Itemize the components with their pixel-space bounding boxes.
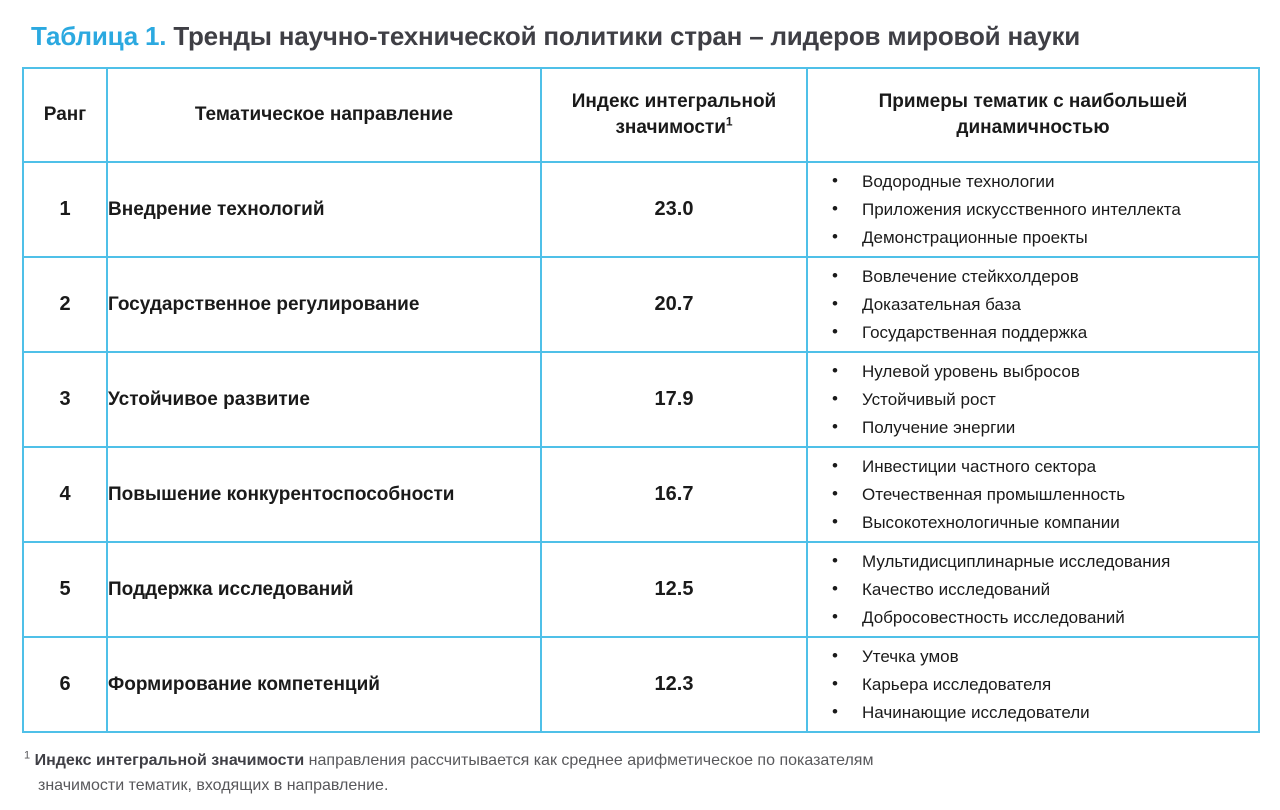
list-item: Добросовестность исследований — [808, 604, 1258, 632]
examples-list: Нулевой уровень выбросов Устойчивый рост… — [808, 358, 1258, 442]
list-item: Нулевой уровень выбросов — [808, 358, 1258, 386]
column-header-index-line1: Индекс интегральной — [572, 91, 777, 112]
cell-index: 20.7 — [541, 257, 807, 352]
cell-theme: Внедрение технологий — [107, 162, 541, 257]
cell-rank: 6 — [23, 637, 107, 732]
column-header-rank: Ранг — [23, 68, 107, 162]
cell-rank: 4 — [23, 447, 107, 542]
list-item: Демонстрационные проекты — [808, 224, 1258, 252]
table-row: 3 Устойчивое развитие 17.9 Нулевой урове… — [23, 352, 1259, 447]
column-header-theme: Тематическое направление — [107, 68, 541, 162]
cell-examples: Водородные технологии Приложения искусст… — [807, 162, 1259, 257]
list-item: Утечка умов — [808, 643, 1258, 671]
footnote-ref: 1 — [726, 115, 733, 129]
examples-list: Водородные технологии Приложения искусст… — [808, 168, 1258, 252]
footnote-marker: 1 — [24, 750, 30, 762]
column-header-examples: Примеры тематик с наибольшей динамичност… — [807, 68, 1259, 162]
cell-theme: Устойчивое развитие — [107, 352, 541, 447]
cell-examples: Мультидисциплинарные исследования Качест… — [807, 542, 1259, 637]
list-item: Высокотехнологичные компании — [808, 509, 1258, 537]
table-row: 6 Формирование компетенций 12.3 Утечка у… — [23, 637, 1259, 732]
table-header-row: Ранг Тематическое направление Индекс инт… — [23, 68, 1259, 162]
list-item: Карьера исследователя — [808, 671, 1258, 699]
cell-theme: Государственное регулирование — [107, 257, 541, 352]
cell-theme: Повышение конкурентоспособности — [107, 447, 541, 542]
cell-index: 23.0 — [541, 162, 807, 257]
cell-examples: Вовлечение стейкхолдеров Доказательная б… — [807, 257, 1259, 352]
list-item: Мультидисциплинарные исследования — [808, 548, 1258, 576]
list-item: Доказательная база — [808, 291, 1258, 319]
list-item: Инвестиции частного сектора — [808, 453, 1258, 481]
list-item: Водородные технологии — [808, 168, 1258, 196]
examples-list: Мультидисциплинарные исследования Качест… — [808, 548, 1258, 632]
table-row: 5 Поддержка исследований 12.5 Мультидисц… — [23, 542, 1259, 637]
table-row: 2 Государственное регулирование 20.7 Вов… — [23, 257, 1259, 352]
cell-examples: Инвестиции частного сектора Отечественна… — [807, 447, 1259, 542]
table-row: 4 Повышение конкурентоспособности 16.7 И… — [23, 447, 1259, 542]
footnote-description-line2: значимости тематик, входящих в направлен… — [24, 773, 1254, 798]
table-head: Ранг Тематическое направление Индекс инт… — [23, 68, 1259, 162]
table-container: Ранг Тематическое направление Индекс инт… — [22, 67, 1258, 733]
cell-theme: Формирование компетенций — [107, 637, 541, 732]
table-caption: Таблица 1. Тренды научно-технической пол… — [31, 20, 1261, 52]
cell-index: 12.3 — [541, 637, 807, 732]
footnote-description: направления рассчитывается как среднее а… — [304, 752, 873, 769]
footnote-term: Индекс интегральной значимости — [35, 752, 305, 769]
cell-rank: 2 — [23, 257, 107, 352]
list-item: Начинающие исследователи — [808, 699, 1258, 727]
list-item: Отечественная промышленность — [808, 481, 1258, 509]
cell-rank: 5 — [23, 542, 107, 637]
table-row: 1 Внедрение технологий 23.0 Водородные т… — [23, 162, 1259, 257]
footnote: 1 Индекс интегральной значимости направл… — [24, 748, 1254, 798]
list-item: Качество исследований — [808, 576, 1258, 604]
examples-list: Инвестиции частного сектора Отечественна… — [808, 453, 1258, 537]
cell-index: 16.7 — [541, 447, 807, 542]
column-header-examples-line2: динамичностью — [956, 117, 1109, 138]
list-item: Получение энергии — [808, 414, 1258, 442]
cell-rank: 1 — [23, 162, 107, 257]
examples-list: Вовлечение стейкхолдеров Доказательная б… — [808, 263, 1258, 347]
column-header-index-line2: значимости — [615, 117, 725, 138]
cell-examples: Утечка умов Карьера исследователя Начина… — [807, 637, 1259, 732]
cell-rank: 3 — [23, 352, 107, 447]
list-item: Государственная поддержка — [808, 319, 1258, 347]
cell-index: 17.9 — [541, 352, 807, 447]
trends-table: Ранг Тематическое направление Индекс инт… — [22, 67, 1260, 733]
cell-theme: Поддержка исследований — [107, 542, 541, 637]
column-header-examples-line1: Примеры тематик с наибольшей — [879, 91, 1188, 112]
list-item: Вовлечение стейкхолдеров — [808, 263, 1258, 291]
list-item: Приложения искусственного интеллекта — [808, 196, 1258, 224]
examples-list: Утечка умов Карьера исследователя Начина… — [808, 643, 1258, 727]
table-body: 1 Внедрение технологий 23.0 Водородные т… — [23, 162, 1259, 732]
list-item: Устойчивый рост — [808, 386, 1258, 414]
caption-label: Таблица 1. — [31, 21, 166, 51]
table-page: Таблица 1. Тренды научно-технической пол… — [0, 0, 1280, 810]
column-header-index: Индекс интегральной значимости1 — [541, 68, 807, 162]
cell-examples: Нулевой уровень выбросов Устойчивый рост… — [807, 352, 1259, 447]
cell-index: 12.5 — [541, 542, 807, 637]
caption-text: Тренды научно-технической политики стран… — [173, 21, 1080, 51]
